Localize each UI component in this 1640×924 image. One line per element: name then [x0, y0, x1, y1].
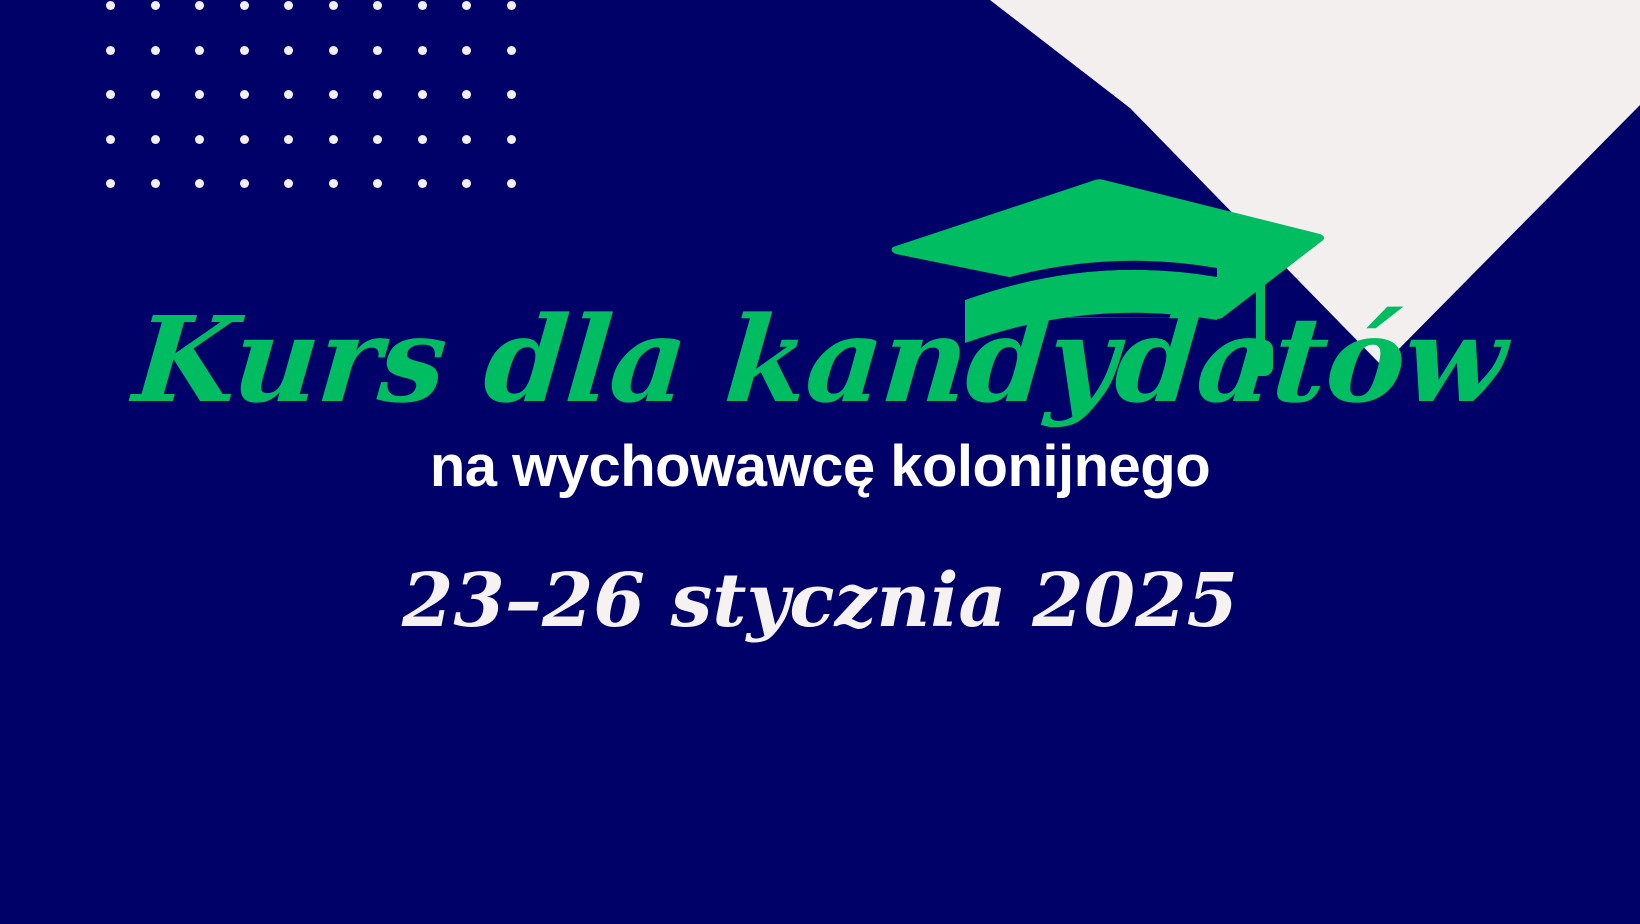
page-subtitle: na wychowawcę kolonijnego	[0, 437, 1640, 498]
page-title: Kurs dla kandydatów	[0, 300, 1640, 420]
poster-canvas: Kurs dla kandydatów na wychowawcę koloni…	[0, 0, 1640, 924]
event-date: 23–26 stycznia 2025	[0, 563, 1640, 641]
